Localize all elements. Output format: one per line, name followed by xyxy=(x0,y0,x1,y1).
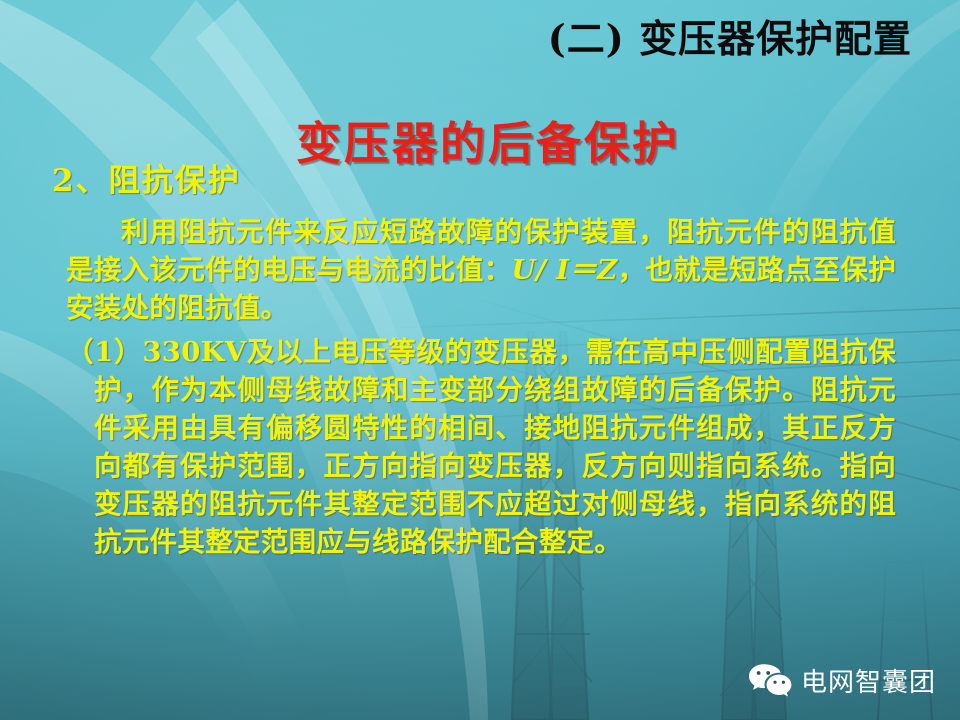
slide-main-title: 变压器的后备保护 xyxy=(296,107,680,172)
paragraph-definition: 利用阻抗元件来反应短路故障的保护装置，阻抗元件的阻抗值是接入该元件的电压与电流的… xyxy=(66,213,896,327)
presentation-slide: (二) 变压器保护配置 变压器的后备保护 2、阻抗保护 利用阻抗元件来反应短路故… xyxy=(0,0,960,720)
watermark-label: 电网智囊团 xyxy=(801,662,936,699)
watermark: 电网智囊团 xyxy=(748,662,936,699)
slide-body: 利用阻抗元件来反应短路故障的保护装置，阻抗元件的阻抗值是接入该元件的电压与电流的… xyxy=(66,213,896,567)
wechat-icon xyxy=(748,663,792,699)
paragraph-item-1: （1）330KV及以上电压等级的变压器，需在高中压侧配置阻抗保护，作为本侧母线故… xyxy=(66,333,896,561)
slide-header-title: (二) 变压器保护配置 xyxy=(548,8,912,63)
impedance-formula: U/ I＝Z xyxy=(512,254,618,286)
section-heading: 2、阻抗保护 xyxy=(52,155,241,200)
